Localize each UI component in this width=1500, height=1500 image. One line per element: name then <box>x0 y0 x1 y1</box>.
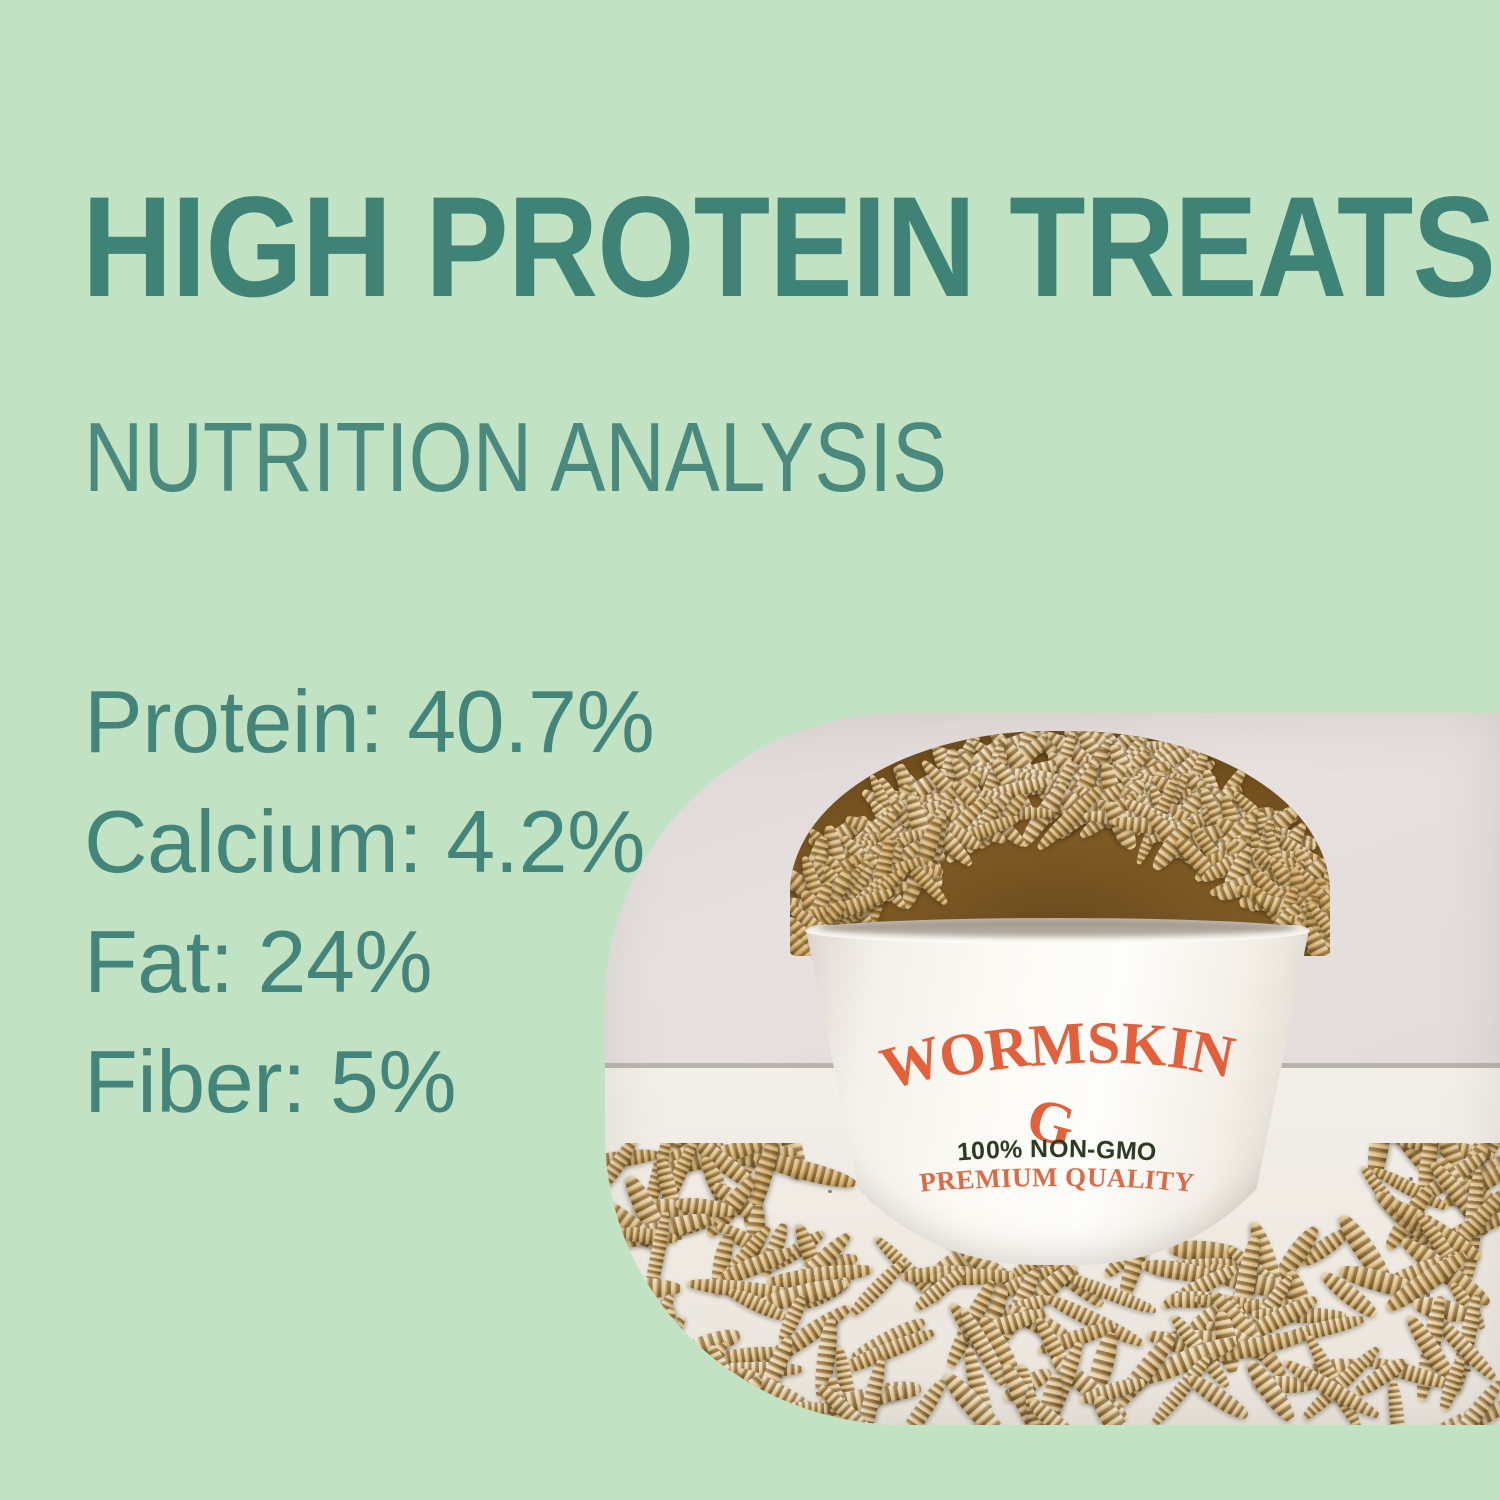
product-photo: WORMSKING 100% NON-GMO PREMIUM QUALITY <box>605 713 1500 1425</box>
page-title: HIGH PROTEIN TREATS <box>82 176 1495 319</box>
table-speck <box>828 1190 831 1193</box>
bowl-interior-shadow <box>819 919 1296 937</box>
infographic-canvas: HIGH PROTEIN TREATS NUTRITION ANALYSIS P… <box>0 0 1500 1500</box>
larva <box>1386 1380 1408 1425</box>
table-speck <box>677 1236 681 1240</box>
table-speck <box>616 1378 618 1380</box>
page-subtitle: NUTRITION ANALYSIS <box>84 408 947 506</box>
